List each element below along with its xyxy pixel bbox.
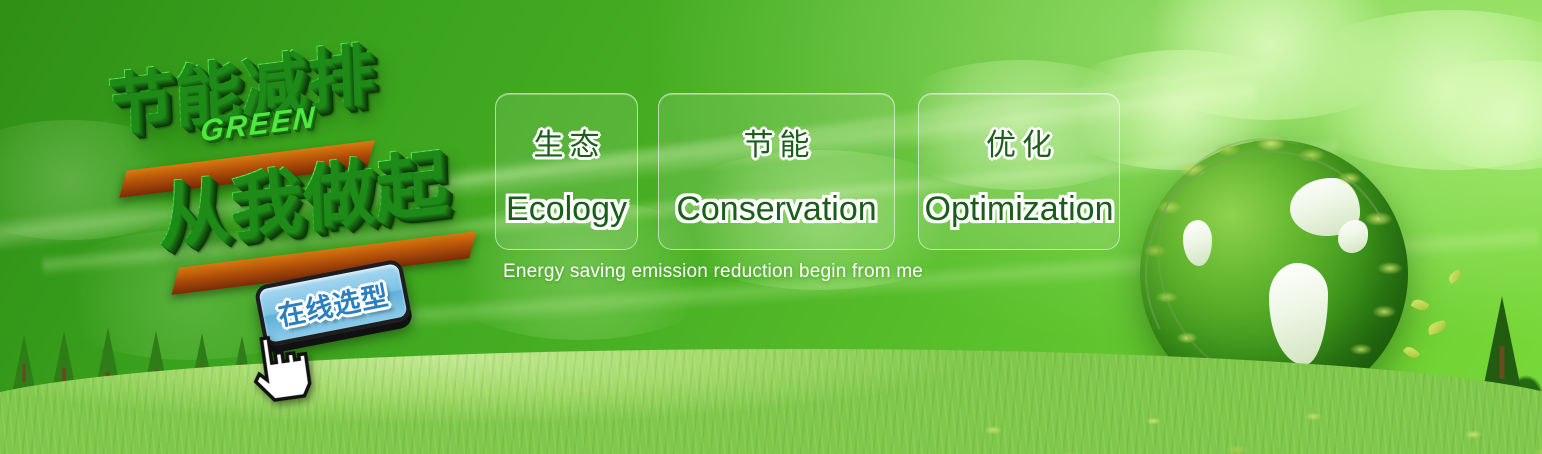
feature-card-en-label: Optimization [925, 190, 1114, 229]
feature-card-conservation[interactable]: 节能 Conservation [658, 93, 895, 250]
feature-card-optimization[interactable]: 优化 Optimization [918, 93, 1120, 250]
cloud-icon [1400, 60, 1542, 170]
falling-leaf-icon [1427, 320, 1447, 335]
banner-tagline: Energy saving emission reduction begin f… [503, 261, 923, 283]
continent-greenland [1338, 220, 1367, 252]
falling-leaf-icon [1447, 269, 1464, 284]
feature-card-cn-label: 生态 [528, 120, 606, 164]
conifer-tree-icon [12, 335, 35, 391]
feature-card-cn-label: 节能 [738, 120, 816, 164]
feature-card-cn-label: 优化 [980, 120, 1058, 164]
leaf-litter [942, 394, 1542, 454]
conifer-tree-icon [1482, 296, 1522, 394]
eco-hero-banner: 节能减排 GREEN 从我做起 在线选型 生态 Ecology 节能 Conse… [0, 0, 1542, 454]
feature-card-en-label: Conservation [676, 190, 876, 229]
falling-leaf-icon [1411, 297, 1430, 313]
headline-artwork: 节能减排 GREEN 从我做起 [104, 36, 504, 276]
hand-pointer-icon [235, 325, 319, 409]
feature-card-ecology[interactable]: 生态 Ecology [495, 93, 638, 250]
feature-card-en-label: Ecology [506, 190, 627, 229]
grass-field [0, 349, 1542, 454]
cloud-icon [1120, 0, 1420, 120]
